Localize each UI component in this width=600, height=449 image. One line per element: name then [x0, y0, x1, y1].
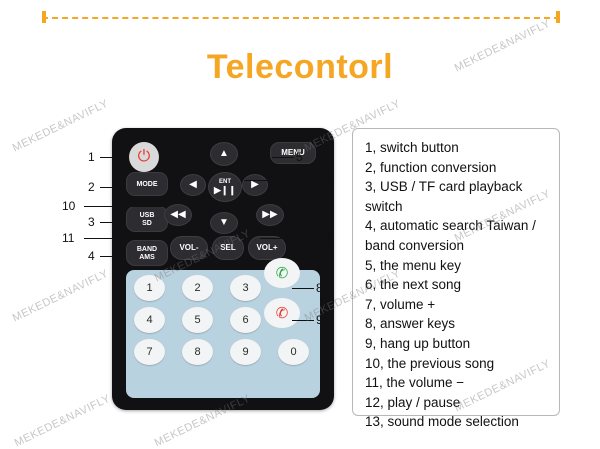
numeric-keypad: 1 2 3 4 5 6 7 8 9 0: [126, 270, 320, 398]
watermark: MEKEDE&NAVIFLY: [11, 268, 111, 325]
leader-line-12: [244, 180, 316, 181]
next-song-button[interactable]: ▶▶: [256, 204, 284, 226]
up-button[interactable]: ▲: [210, 142, 238, 166]
left-button[interactable]: ◀: [180, 174, 206, 196]
legend-item: 13, sound mode selection: [365, 412, 549, 432]
leader-line-13: [260, 238, 316, 239]
down-button[interactable]: ▼: [210, 212, 238, 234]
key-7[interactable]: 7: [134, 339, 165, 365]
callout-8: 8: [316, 281, 323, 295]
enter-play-pause-button[interactable]: ENT ▶❙❙: [208, 172, 242, 202]
usb-sd-label-line1: USB: [140, 212, 155, 219]
leader-line-6: [284, 222, 308, 223]
callout-6: 6: [310, 215, 317, 229]
key-1[interactable]: 1: [134, 275, 165, 301]
key-6[interactable]: 6: [230, 307, 261, 333]
callout-5: 5: [296, 150, 303, 164]
leader-line-8: [292, 288, 314, 289]
legend-item: 10, the previous song: [365, 354, 549, 374]
volume-up-button[interactable]: VOL+: [248, 236, 286, 260]
callout-1: 1: [88, 150, 95, 164]
callout-11: 11: [62, 231, 74, 245]
usb-sd-button[interactable]: USB SD: [126, 206, 168, 232]
leader-line-10: [84, 206, 166, 207]
key-9[interactable]: 9: [230, 339, 261, 365]
legend-item: 4, automatic search Taiwan /: [365, 216, 549, 236]
callout-3: 3: [88, 215, 95, 229]
legend-box: 1, switch button 2, function conversion …: [352, 128, 560, 416]
remote-control-body: ⏻ MENU MODE USB SD BAND AMS ▲ ◀ ▶ ▼ ENT …: [112, 128, 334, 410]
key-3[interactable]: 3: [230, 275, 261, 301]
usb-sd-label-line2: SD: [142, 220, 152, 227]
leader-line-4: [100, 256, 126, 257]
legend-item: 6, the next song: [365, 275, 549, 295]
page-title: Telecontorl: [0, 48, 600, 87]
key-0[interactable]: 0: [278, 339, 309, 365]
power-button[interactable]: ⏻: [129, 142, 159, 172]
watermark: MEKEDE&NAVIFLY: [13, 393, 113, 449]
leader-line-7: [288, 256, 308, 257]
top-rule-right-cap: [556, 11, 560, 23]
legend-item: 1, switch button: [365, 138, 549, 158]
mode-button[interactable]: MODE: [126, 172, 168, 196]
callout-12: 12: [318, 173, 331, 187]
key-5[interactable]: 5: [182, 307, 213, 333]
callout-4: 4: [88, 249, 95, 263]
callout-13: 13: [318, 231, 331, 245]
play-pause-icon: ▶❙❙: [214, 186, 236, 195]
menu-button[interactable]: MENU: [270, 142, 316, 164]
legend-item: switch: [365, 197, 549, 217]
legend-item: 11, the volume −: [365, 373, 549, 393]
callout-2: 2: [88, 180, 95, 194]
leader-line-3: [100, 222, 126, 223]
volume-down-button[interactable]: VOL-: [170, 236, 208, 260]
band-label-line2: AMS: [139, 254, 155, 261]
key-4[interactable]: 4: [134, 307, 165, 333]
top-rule-left-cap: [42, 11, 46, 23]
watermark: MEKEDE&NAVIFLY: [11, 98, 111, 155]
legend-item: 5, the menu key: [365, 256, 549, 276]
callout-10: 10: [62, 199, 75, 213]
answer-call-button[interactable]: ✆: [264, 258, 300, 288]
legend-item: 12, play / pause: [365, 393, 549, 413]
legend-item: 8, answer keys: [365, 314, 549, 334]
legend-item: band conversion: [365, 236, 549, 256]
callout-7: 7: [310, 249, 317, 263]
legend-item: 3, USB / TF card playback: [365, 177, 549, 197]
legend-item: 2, function conversion: [365, 158, 549, 178]
legend-item: 7, volume +: [365, 295, 549, 315]
leader-line-1: [100, 157, 128, 158]
callout-9: 9: [316, 313, 323, 327]
right-button[interactable]: ▶: [242, 174, 268, 196]
leader-line-2: [100, 187, 126, 188]
page-root: Telecontorl ⏻ MENU MODE USB SD BAND AMS …: [0, 0, 600, 438]
key-2[interactable]: 2: [182, 275, 213, 301]
band-ams-button[interactable]: BAND AMS: [126, 240, 168, 266]
band-label-line1: BAND: [137, 246, 157, 253]
top-dashed-rule: [42, 17, 560, 19]
previous-song-button[interactable]: ◀◀: [164, 204, 192, 226]
hang-up-button[interactable]: ✆: [264, 298, 300, 328]
select-button[interactable]: SEL: [212, 236, 244, 260]
leader-line-9: [292, 320, 314, 321]
legend-item: 9, hang up button: [365, 334, 549, 354]
leader-line-5: [272, 157, 294, 158]
key-8[interactable]: 8: [182, 339, 213, 365]
leader-line-11: [84, 238, 142, 239]
